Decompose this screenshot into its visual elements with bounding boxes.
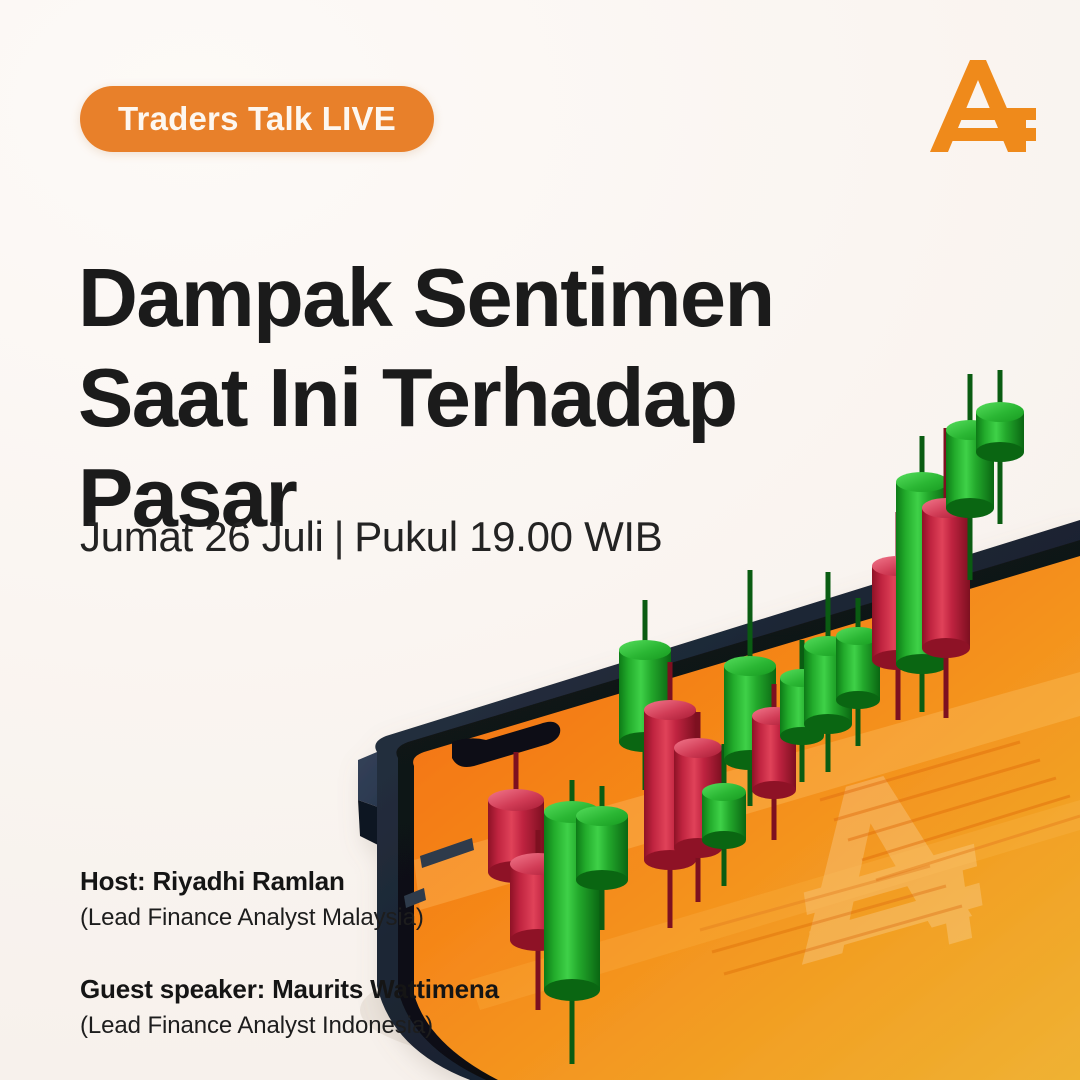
badge-label: Traders Talk LIVE — [118, 100, 396, 138]
brand-a-logo-icon — [922, 52, 1042, 164]
page-title: Dampak Sentimen Saat Ini Terhadap Pasar — [78, 248, 838, 549]
candle-3-up — [544, 780, 600, 1064]
candle-2-down — [510, 830, 566, 1010]
candle-11-up — [780, 640, 824, 782]
speakers-block: Host: Riyadhi Ramlan (Lead Finance Analy… — [80, 866, 499, 1040]
host-name: Host: Riyadhi Ramlan — [80, 866, 499, 897]
guest-speaker-name: Guest speaker: Maurits Wattimena — [80, 974, 499, 1005]
schedule-line: Jumat 26 Juli|Pukul 19.00 WIB — [80, 513, 663, 561]
candle-13-up — [836, 598, 880, 746]
schedule-time: Pukul 19.00 WIB — [354, 513, 662, 560]
headline-line-1: Dampak Sentimen — [78, 248, 838, 348]
candle-10-down — [752, 684, 796, 840]
candle-6-down — [644, 662, 696, 928]
schedule-separator: | — [334, 513, 345, 561]
candle-9-up — [724, 570, 776, 806]
guest-speaker-entry: Guest speaker: Maurits Wattimena (Lead F… — [80, 974, 499, 1040]
candle-18-up — [976, 370, 1024, 524]
candle-4-up — [576, 786, 628, 930]
candle-14-down — [872, 512, 924, 720]
candle-15-up — [896, 436, 948, 712]
candle-16-down — [922, 428, 970, 718]
candle-7-down — [674, 712, 722, 902]
candle-17-up — [946, 374, 994, 580]
host-role: (Lead Finance Analyst Malaysia) — [80, 904, 499, 932]
schedule-date: Jumat 26 Juli — [80, 513, 324, 560]
headline-line-2: Saat Ini Terhadap — [78, 348, 838, 448]
candle-8-up — [702, 744, 746, 886]
host-entry: Host: Riyadhi Ramlan (Lead Finance Analy… — [80, 866, 499, 932]
candle-5-up — [619, 600, 671, 790]
traders-talk-live-badge[interactable]: Traders Talk LIVE — [80, 86, 434, 152]
guest-speaker-role: (Lead Finance Analyst Indonesia) — [80, 1012, 499, 1040]
poster-canvas: Traders Talk LIVE Dampak Sentimen Saat I… — [0, 0, 1080, 1080]
candle-12-up — [804, 572, 852, 772]
